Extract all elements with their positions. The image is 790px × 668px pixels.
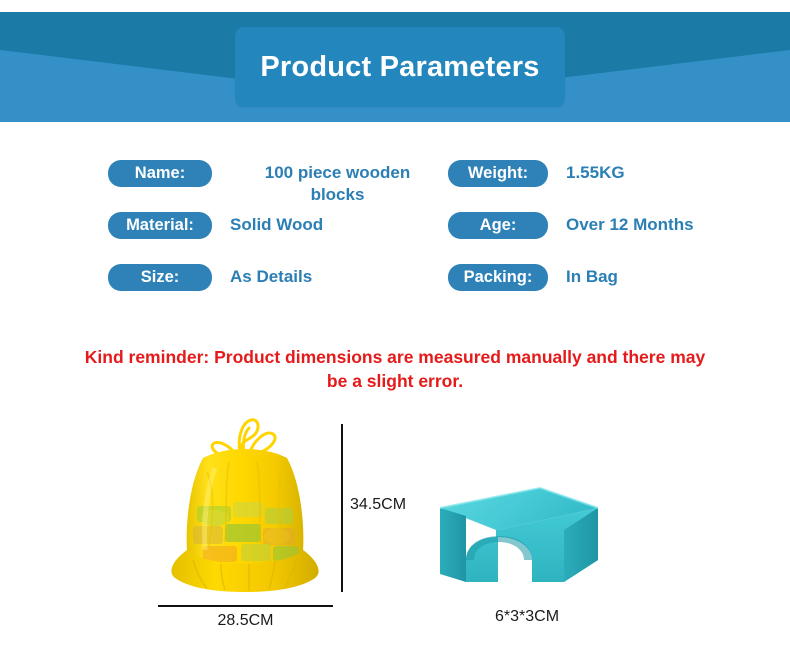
parameter-value-age: Over 12 Months <box>566 214 790 236</box>
parameter-size: Size: As Details <box>108 264 445 291</box>
product-photo-area: 34.5CM 28.5CM <box>0 400 790 650</box>
width-dimension-label: 28.5CM <box>158 612 333 630</box>
parameter-age: Age: Over 12 Months <box>448 212 790 239</box>
parameter-grid: Name: 100 piece wooden blocks Weight: 1.… <box>0 160 790 316</box>
yellow-bag-image <box>145 410 345 605</box>
parameter-label-material: Material: <box>108 212 212 239</box>
parameter-label-name: Name: <box>108 160 212 187</box>
parameter-value-name: 100 piece wooden blocks <box>230 162 445 206</box>
parameter-value-weight: 1.55KG <box>566 162 790 184</box>
parameter-label-size: Size: <box>108 264 212 291</box>
parameter-label-weight: Weight: <box>448 160 548 187</box>
parameter-row: Name: 100 piece wooden blocks Weight: 1.… <box>0 160 790 212</box>
kind-reminder-text: Kind reminder: Product dimensions are me… <box>80 345 710 393</box>
parameter-material: Material: Solid Wood <box>108 212 445 239</box>
yellow-bag-graphic <box>145 410 345 605</box>
parameter-weight: Weight: 1.55KG <box>448 160 790 187</box>
parameter-label-packing: Packing: <box>448 264 548 291</box>
block-left-face <box>440 508 466 582</box>
page-title-box: Product Parameters <box>235 27 565 107</box>
parameter-label-age: Age: <box>448 212 548 239</box>
parameter-name: Name: 100 piece wooden blocks <box>108 160 445 206</box>
height-dimension-label: 34.5CM <box>350 496 406 514</box>
parameter-packing: Packing: In Bag <box>448 264 790 291</box>
width-dimension-line <box>158 605 333 607</box>
parameter-row: Material: Solid Wood Age: Over 12 Months <box>0 212 790 264</box>
bag-contents <box>193 502 299 562</box>
arch-block-image <box>432 482 622 592</box>
parameter-value-size: As Details <box>230 266 445 288</box>
header-banner: Product Parameters <box>0 12 790 122</box>
block-size-label: 6*3*3CM <box>432 608 622 626</box>
parameter-value-material: Solid Wood <box>230 214 445 236</box>
parameter-value-packing: In Bag <box>566 266 790 288</box>
height-dimension-line <box>341 424 343 592</box>
parameter-row: Size: As Details Packing: In Bag <box>0 264 790 316</box>
page-title: Product Parameters <box>260 51 539 84</box>
arch-block-graphic <box>432 482 622 592</box>
